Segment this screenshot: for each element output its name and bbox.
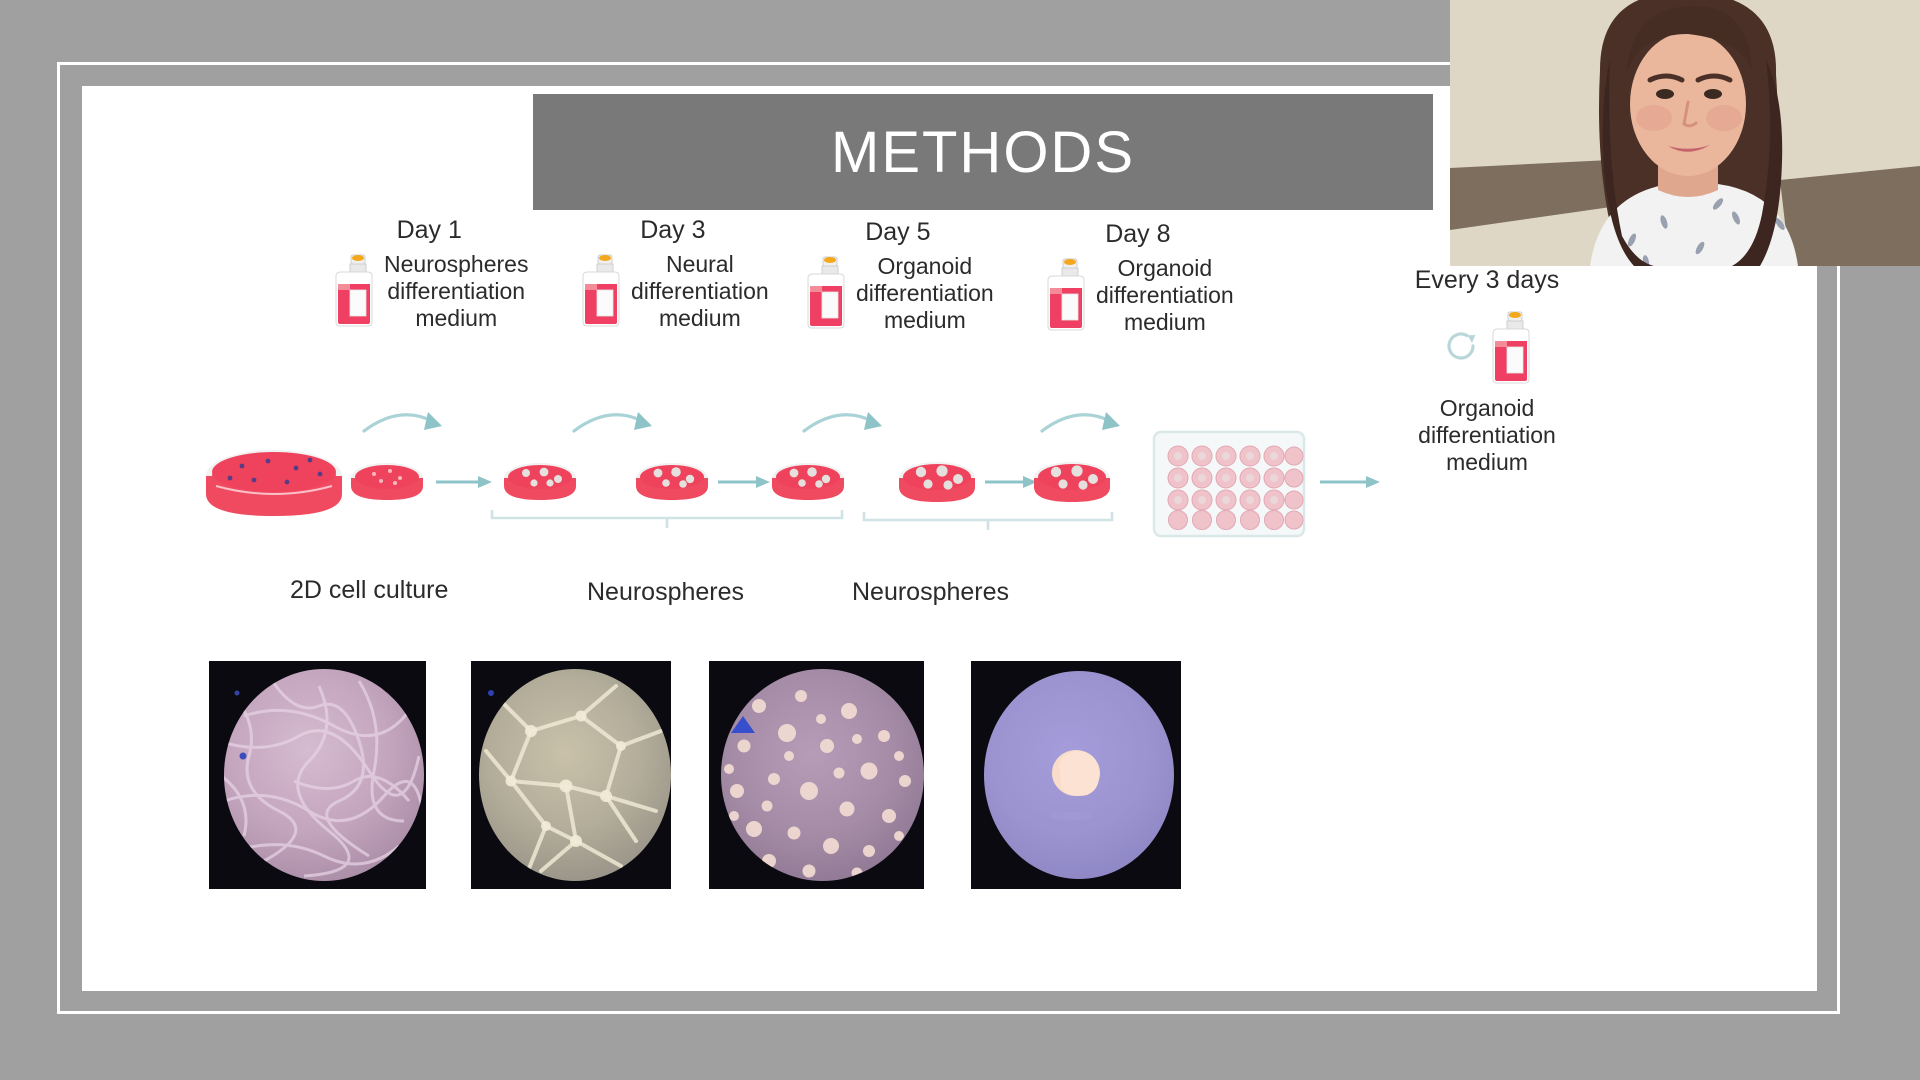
medium-label-8: Organoid differentiation medium <box>1096 255 1234 336</box>
diagram-step-day-8: Day 8 <box>1042 220 1234 336</box>
petri-dish-small-2 <box>504 463 576 500</box>
medium-line: differentiation <box>384 278 528 305</box>
microscopy-photo-neural-network <box>471 661 671 889</box>
refresh-cycle-icon <box>1441 326 1481 371</box>
microscopy-photo-organoid <box>971 661 1181 889</box>
microscopy-photo-row <box>82 661 1817 941</box>
recurring-label: Every 3 days <box>1382 266 1592 295</box>
medium-line: differentiation <box>631 278 769 305</box>
page-title: METHODS <box>831 119 1135 186</box>
diagram-step-day-3: Day 3 <box>577 216 769 332</box>
medium-line: differentiation <box>1096 282 1234 309</box>
microscopy-photo-2d-culture <box>209 661 426 889</box>
medium-line: Neural <box>631 251 769 278</box>
medium-line: differentiation <box>856 280 994 307</box>
24-well-plate-icon <box>1154 432 1304 536</box>
media-bottle-icon <box>577 254 623 328</box>
petri-dish-small-3 <box>636 463 708 500</box>
medium-label-1: Neurospheres differentiation medium <box>384 251 528 332</box>
slide-title-banner: METHODS <box>533 94 1433 210</box>
microscopy-photo-neurospheres <box>709 661 924 889</box>
petri-dish-2d-culture <box>206 450 342 516</box>
medium-line: Organoid <box>856 253 994 280</box>
medium-label-3: Neural differentiation medium <box>631 251 769 332</box>
day-label-1: Day 1 <box>330 216 528 245</box>
petri-dish-small-6 <box>1034 462 1110 502</box>
media-bottle-icon <box>1487 311 1533 385</box>
medium-line: medium <box>631 305 769 332</box>
caption-neurospheres-2: Neurospheres <box>852 578 1009 607</box>
caption-2d-cell-culture: 2D cell culture <box>290 576 448 605</box>
medium-line: medium <box>1096 309 1234 336</box>
medium-line: Organoid <box>1096 255 1234 282</box>
medium-label-5: Organoid differentiation medium <box>856 253 994 334</box>
day-label-3: Day 3 <box>577 216 769 245</box>
diagram-step-day-1: Day 1 <box>330 216 528 332</box>
media-bottle-icon <box>802 256 848 330</box>
culture-progression-graphic <box>82 386 1817 596</box>
presentation-viewer: METHODS Day 1 <box>0 0 1920 1080</box>
medium-line: medium <box>856 307 994 334</box>
petri-dish-small-1 <box>351 463 423 500</box>
workflow-diagram: Day 1 <box>82 216 1817 636</box>
medium-line: medium <box>384 305 528 332</box>
day-label-5: Day 5 <box>802 218 994 247</box>
day-label-8: Day 8 <box>1042 220 1234 249</box>
medium-line: Neurospheres <box>384 251 528 278</box>
caption-neurospheres-1: Neurospheres <box>587 578 744 607</box>
diagram-step-day-5: Day 5 <box>802 218 994 334</box>
presenter-webcam-video[interactable] <box>1450 0 1920 266</box>
media-bottle-icon <box>330 254 376 328</box>
media-bottle-icon <box>1042 258 1088 332</box>
petri-dish-small-5 <box>899 462 975 502</box>
petri-dish-small-4 <box>772 463 844 500</box>
